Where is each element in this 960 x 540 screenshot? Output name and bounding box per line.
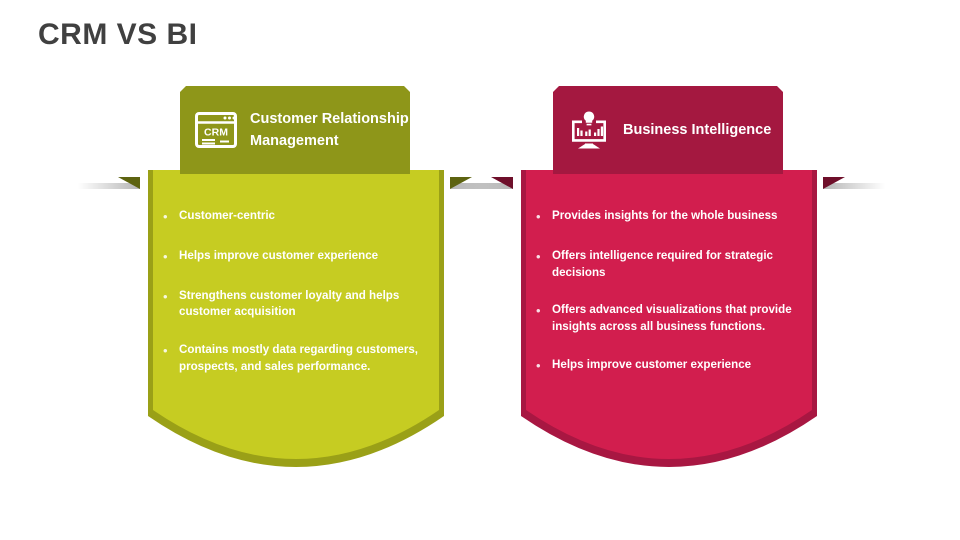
banner-title-crm: Customer Relationship Management	[250, 108, 410, 153]
list-item-text: Provides insights for the whole business	[552, 208, 777, 225]
bi-monitor-lightbulb-chart-icon	[567, 108, 611, 152]
ribbon-fold-right	[823, 177, 845, 189]
banner-crm: CRM Customer Relationship Management	[180, 86, 410, 174]
bullet-marker-icon: •	[536, 248, 552, 267]
list-item-text: Customer-centric	[179, 208, 275, 225]
ribbon-fold-left	[491, 177, 513, 189]
page-title: CRM VS BI	[38, 18, 198, 52]
crm-browser-window-icon: CRM	[194, 108, 238, 152]
svg-text:CRM: CRM	[204, 127, 228, 139]
bullet-marker-icon: •	[536, 208, 552, 227]
list-item-text: Strengthens customer loyalty and helps c…	[179, 288, 425, 322]
list-item-text: Helps improve customer experience	[179, 248, 378, 265]
banner-bi: Business Intelligence	[553, 86, 783, 174]
ribbon-fold-left	[118, 177, 140, 189]
list-item: • Offers advanced visualizations that pr…	[536, 302, 798, 336]
list-item-text: Offers advanced visualizations that prov…	[552, 302, 798, 336]
column-crm: CRM Customer Relationship Management • C…	[140, 86, 450, 496]
slide-canvas: CRM VS BI CRM Custo	[0, 0, 960, 540]
bullet-marker-icon: •	[163, 208, 179, 227]
list-item-text: Helps improve customer experience	[552, 357, 751, 374]
bullet-marker-icon: •	[163, 248, 179, 267]
banner-title-bi: Business Intelligence	[623, 119, 771, 141]
list-item: • Contains mostly data regarding custome…	[163, 342, 425, 376]
list-item: • Provides insights for the whole busine…	[536, 208, 798, 227]
list-item-text: Offers intelligence required for strateg…	[552, 248, 798, 282]
bullet-marker-icon: •	[536, 357, 552, 376]
bullet-marker-icon: •	[163, 342, 179, 361]
list-item: • Customer-centric	[163, 208, 425, 227]
bullet-marker-icon: •	[536, 302, 552, 321]
column-bi: Business Intelligence • Provides insight…	[513, 86, 823, 496]
bullet-list-bi: • Provides insights for the whole busine…	[526, 208, 812, 397]
bullet-marker-icon: •	[163, 288, 179, 307]
list-item: • Strengthens customer loyalty and helps…	[163, 288, 425, 322]
list-item-text: Contains mostly data regarding customers…	[179, 342, 425, 376]
list-item: • Helps improve customer experience	[536, 357, 798, 376]
list-item: • Helps improve customer experience	[163, 248, 425, 267]
list-item: • Offers intelligence required for strat…	[536, 248, 798, 282]
bullet-list-crm: • Customer-centric • Helps improve custo…	[153, 208, 439, 397]
